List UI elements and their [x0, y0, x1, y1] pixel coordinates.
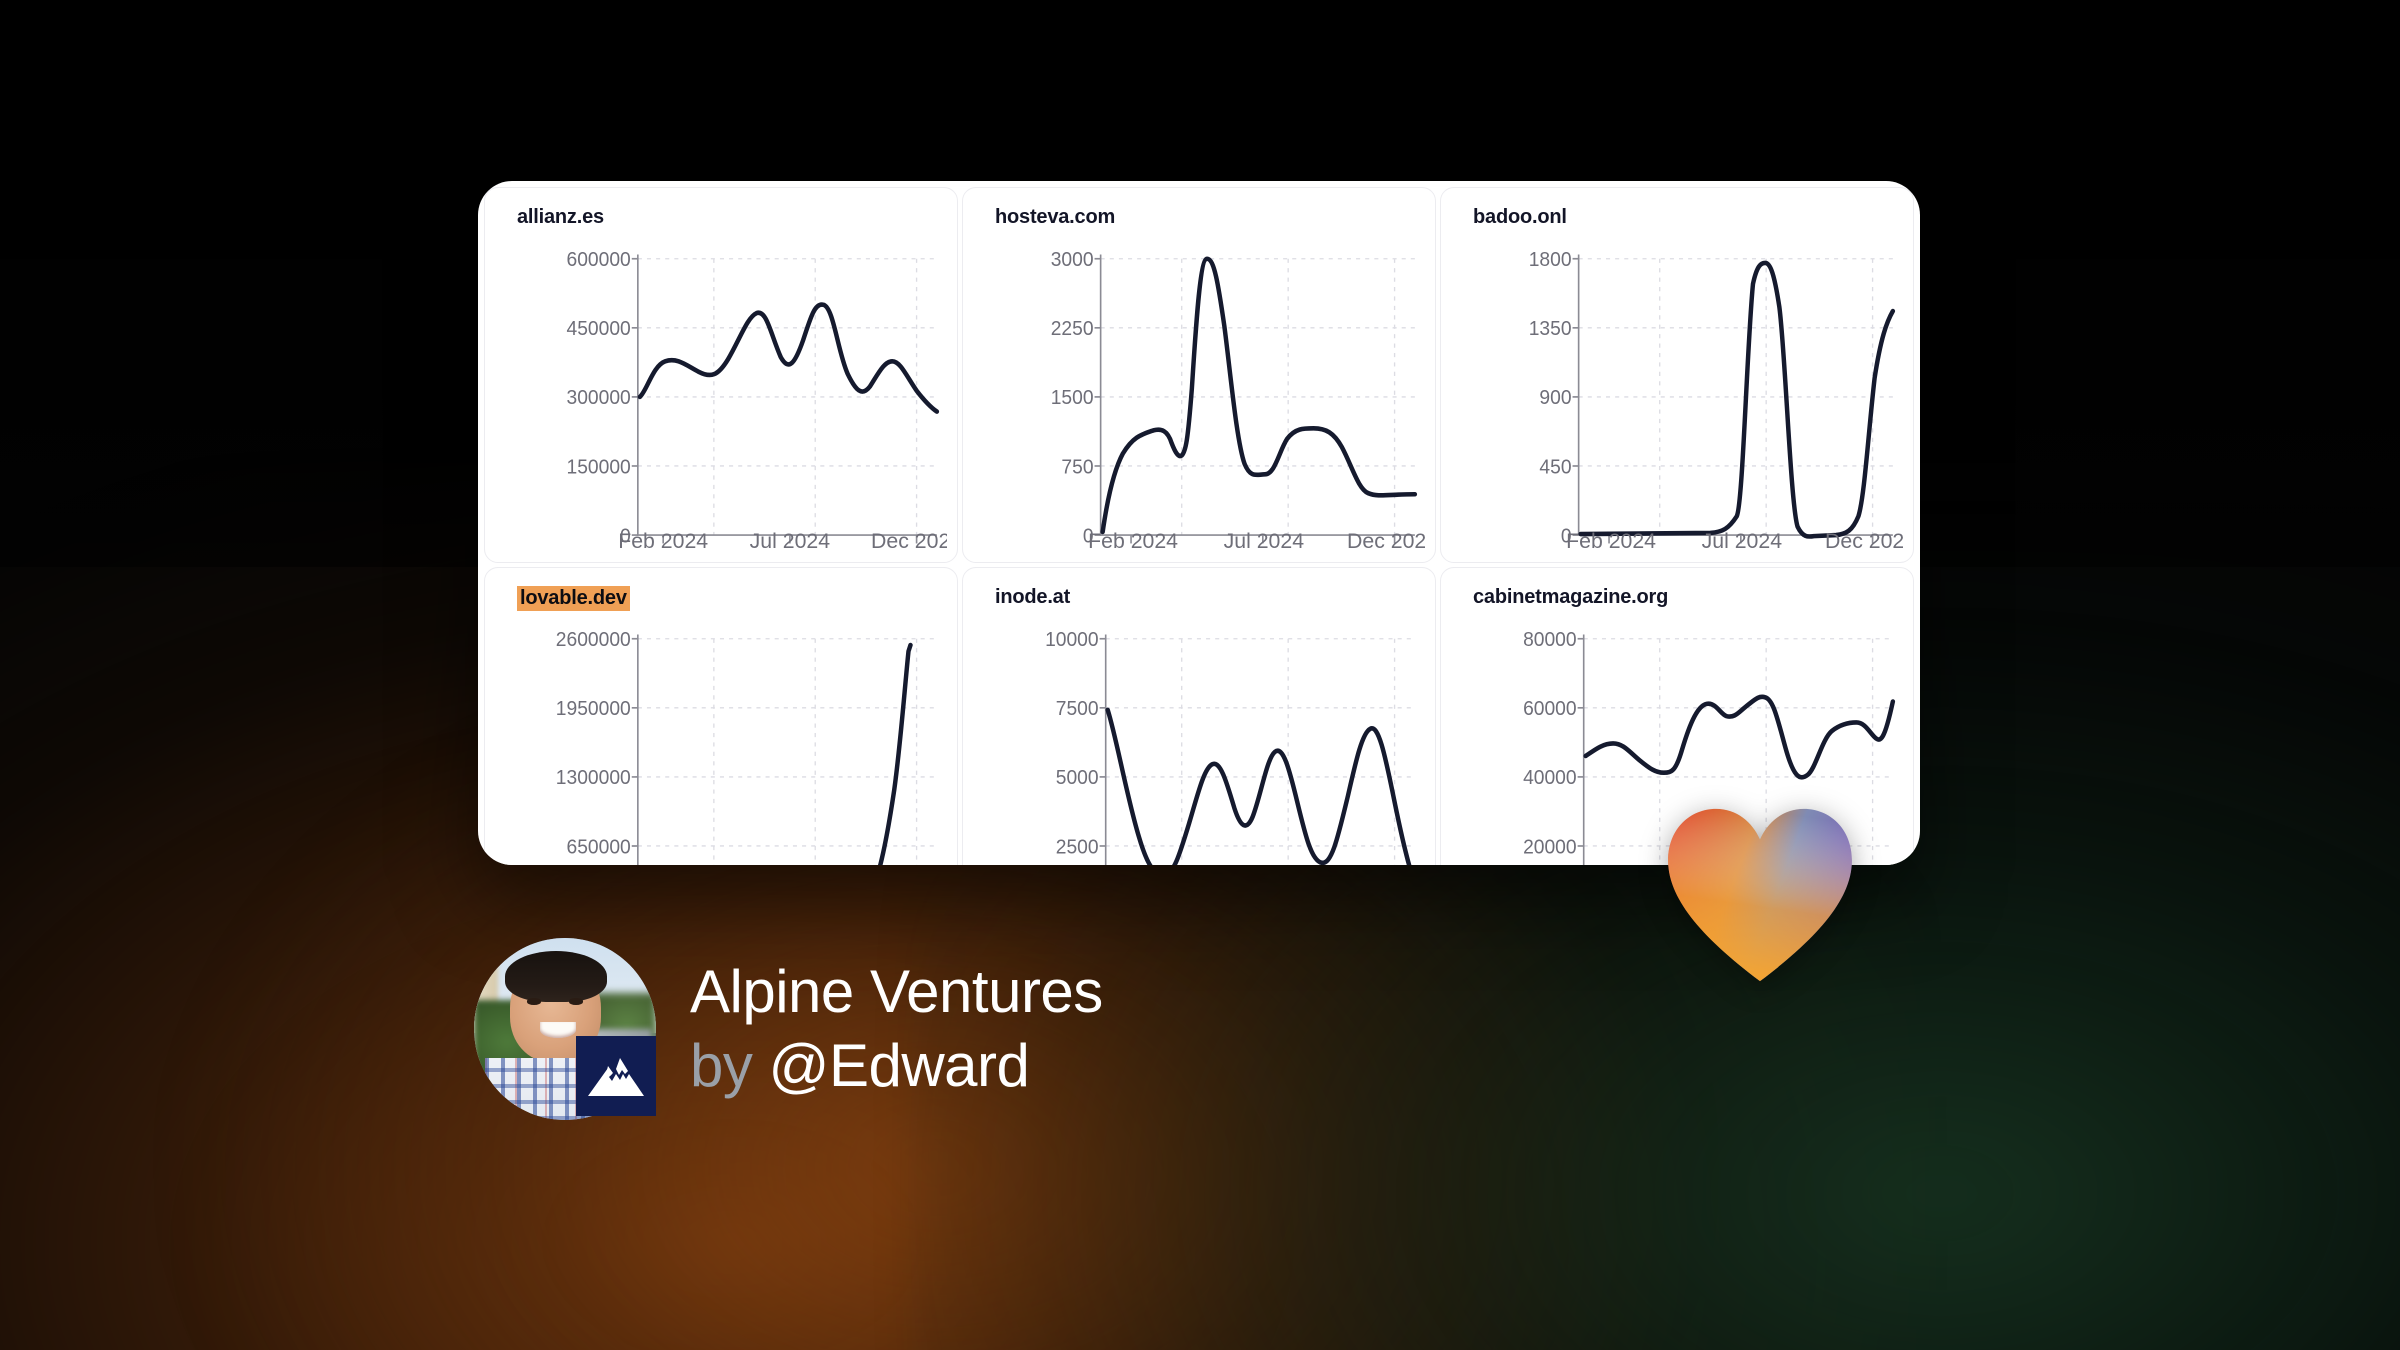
chart-plot-lovable: 2600000 1950000 1300000 650000: [501, 622, 947, 865]
ytick-label: 1800: [1529, 249, 1572, 271]
brand-text-block: Alpine Ventures by @Edward: [690, 962, 1103, 1096]
chart-panel-inode[interactable]: inode.at 10000 7500 5000 2500: [962, 567, 1436, 865]
ytick-label: 450000: [567, 318, 631, 340]
ytick-label: 1300000: [556, 767, 631, 789]
dashboard-card: allianz.es 600000 450000 300000: [478, 181, 1920, 865]
ytick-label: 20000: [1523, 836, 1577, 858]
xtick-label: Jul 2024: [1702, 530, 1783, 553]
author-handle: @Edward: [769, 1032, 1030, 1099]
chart-panel-allianz[interactable]: allianz.es 600000 450000 300000: [484, 187, 958, 563]
ytick-label: 900: [1539, 387, 1571, 409]
ytick-label: 150000: [567, 456, 631, 478]
xtick-label: Dec 2024: [1347, 530, 1425, 553]
xtick-label: Jul 2024: [1224, 530, 1305, 553]
ytick-label: 2500: [1056, 836, 1099, 858]
avatar-eye-right: [569, 998, 584, 1005]
mountain-badge: [576, 1036, 656, 1116]
company-name: Alpine Ventures: [690, 962, 1103, 1022]
xtick-label: Feb 2024: [1088, 530, 1178, 553]
avatar-smile: [540, 1022, 576, 1038]
ytick-label: 2250: [1051, 318, 1094, 340]
chart-plot-inode: 10000 7500 5000 2500: [979, 622, 1425, 865]
xtick-label: Feb 2024: [618, 530, 708, 553]
avatar-with-badge: [474, 938, 656, 1120]
footer-branding: Alpine Ventures by @Edward: [474, 938, 1103, 1120]
xtick-label: Dec 2024: [871, 530, 947, 553]
ytick-label: 60000: [1523, 698, 1577, 720]
ytick-label: 650000: [567, 836, 631, 858]
ytick-label: 1350: [1529, 318, 1572, 340]
ytick-label: 40000: [1523, 767, 1577, 789]
ytick-label: 10000: [1045, 629, 1099, 651]
ytick-label: 300000: [567, 387, 631, 409]
ytick-label: 3000: [1051, 249, 1094, 271]
avatar-eye-left: [527, 998, 542, 1005]
ytick-label: 80000: [1523, 629, 1577, 651]
chart-title: allianz.es: [517, 206, 604, 229]
xtick-label: Dec 2024: [1825, 530, 1903, 553]
chart-panel-badoo[interactable]: badoo.onl 1800 1350 900 450: [1440, 187, 1914, 563]
chart-plot-allianz: 600000 450000 300000 150000 0: [501, 242, 947, 556]
ytick-label: 1500: [1051, 387, 1094, 409]
ytick-label: 5000: [1056, 767, 1099, 789]
chart-title: hosteva.com: [995, 206, 1115, 229]
ytick-label: 600000: [567, 249, 631, 271]
by-label: by: [690, 1032, 769, 1099]
ytick-label: 2600000: [556, 629, 631, 651]
chart-title: inode.at: [995, 586, 1070, 609]
xtick-label: Feb 2024: [1566, 530, 1656, 553]
chart-panel-lovable[interactable]: lovable.dev 2600000 1950000 1300000: [484, 567, 958, 865]
chart-panel-hosteva[interactable]: hosteva.com 3000 2250 1500 750: [962, 187, 1436, 563]
chart-grid: allianz.es 600000 450000 300000: [478, 181, 1920, 865]
avatar-hair: [505, 951, 607, 1002]
ytick-label: 450: [1539, 456, 1571, 478]
chart-plot-hosteva: 3000 2250 1500 750 0: [979, 242, 1425, 556]
chart-plot-badoo: 1800 1350 900 450 0: [1457, 242, 1903, 556]
ytick-label: 750: [1061, 456, 1093, 478]
chart-title: badoo.onl: [1473, 206, 1567, 229]
ytick-label: 7500: [1056, 698, 1099, 720]
mountain-icon: [586, 1054, 646, 1098]
ytick-label: 1950000: [556, 698, 631, 720]
heart-logo-icon: [1664, 805, 1856, 985]
xtick-label: Jul 2024: [750, 530, 831, 553]
chart-title-highlighted: lovable.dev: [517, 586, 630, 611]
chart-title: cabinetmagazine.org: [1473, 586, 1668, 609]
author-line: by @Edward: [690, 1036, 1103, 1096]
